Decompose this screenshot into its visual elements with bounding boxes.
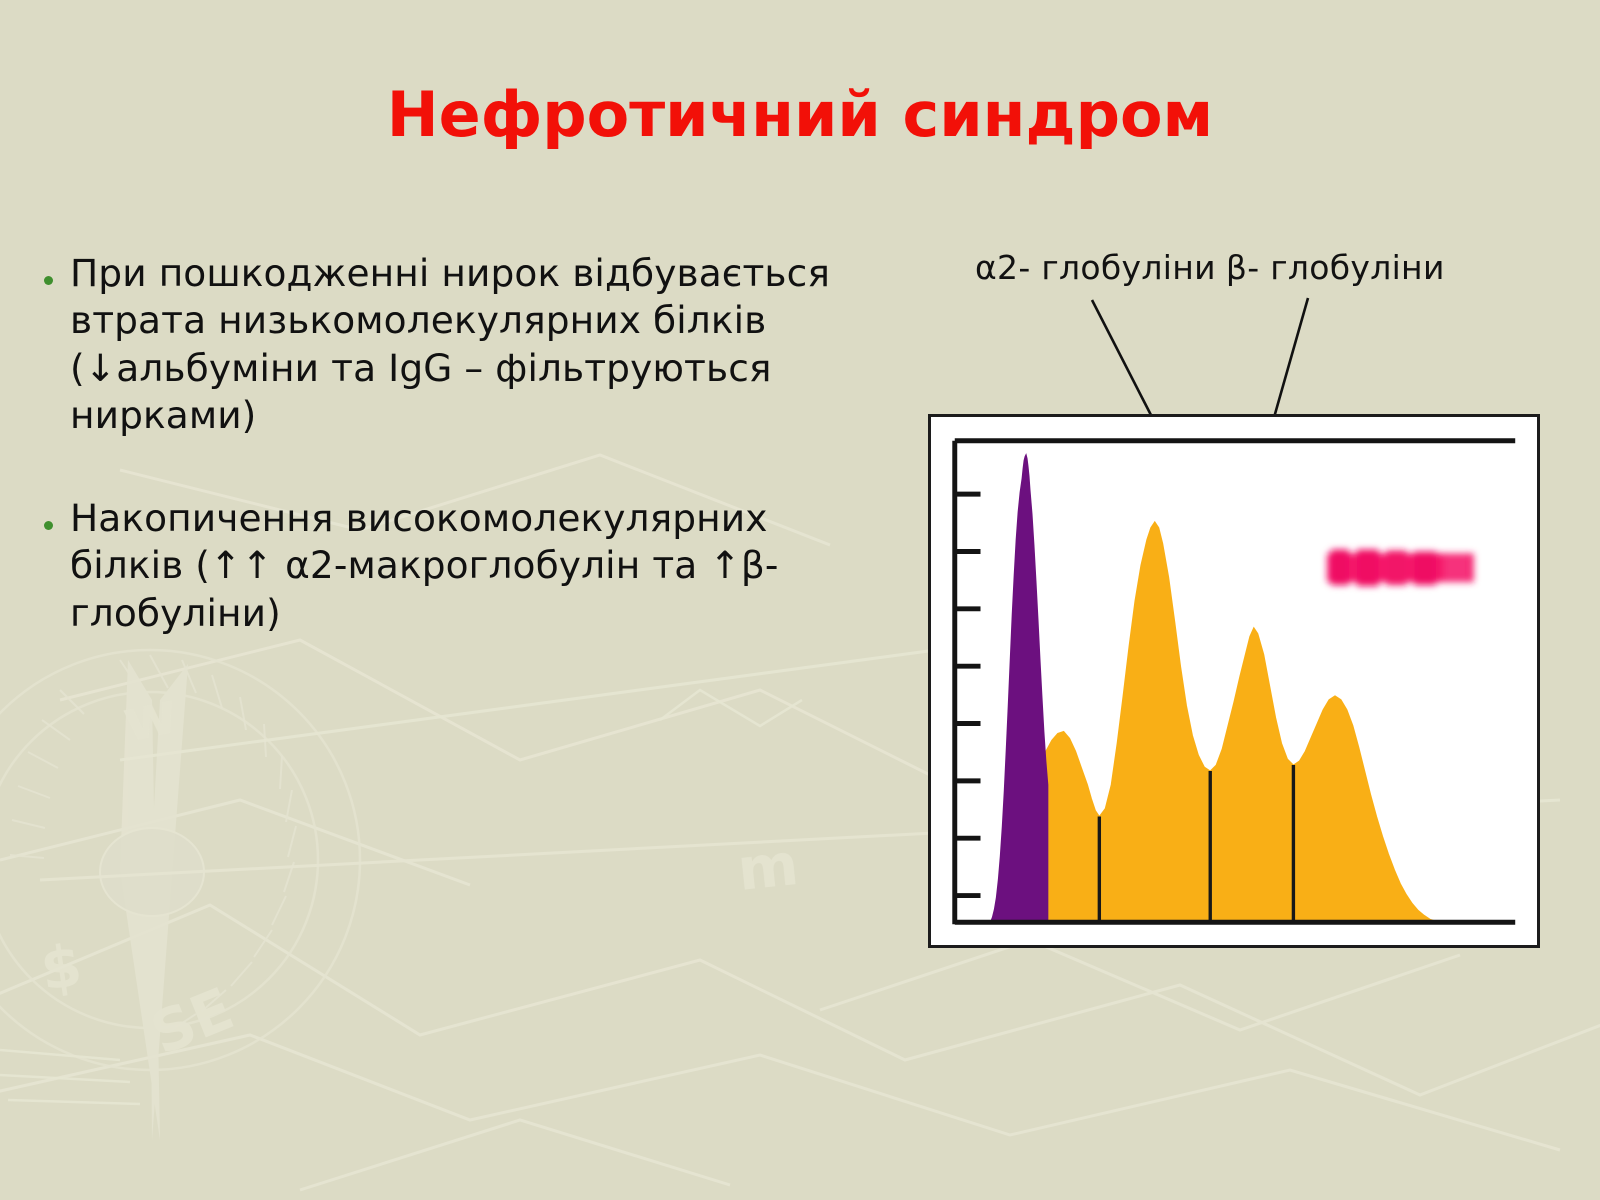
peak-annotation-labels: α2- глобуліниβ- глобуліни bbox=[975, 248, 1495, 287]
list-item: Накопичення високомолекулярних білків (↑… bbox=[44, 495, 864, 637]
bullet-dot-icon bbox=[44, 276, 53, 285]
bullet-marker bbox=[44, 250, 70, 289]
bullet-marker bbox=[44, 495, 70, 534]
svg-text:$: $ bbox=[36, 931, 85, 1004]
bullet-text-1: При пошкодженні нирок відбувається втрат… bbox=[70, 250, 864, 439]
label-alpha2-globulins: α2- глобуліни bbox=[975, 248, 1216, 287]
electrophoresis-gel-band bbox=[1327, 549, 1474, 586]
bullet-list: При пошкодженні нирок відбувається втрат… bbox=[44, 250, 864, 693]
densitometry-chart bbox=[931, 417, 1537, 945]
list-item: При пошкодженні нирок відбувається втрат… bbox=[44, 250, 864, 439]
electrophoresis-figure bbox=[928, 414, 1540, 948]
svg-text:m: m bbox=[734, 830, 801, 904]
label-beta-globulins: β- глобуліни bbox=[1226, 248, 1445, 287]
svg-text:SE: SE bbox=[142, 974, 243, 1068]
page-title: Нефротичний синдром bbox=[0, 82, 1600, 147]
bullet-text-2: Накопичення високомолекулярних білків (↑… bbox=[70, 495, 864, 637]
bullet-dot-icon bbox=[44, 521, 53, 530]
